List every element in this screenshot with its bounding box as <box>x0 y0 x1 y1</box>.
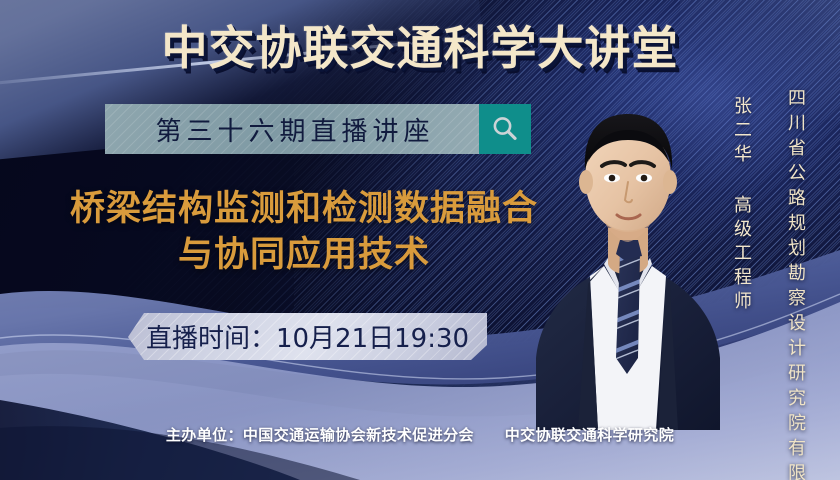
webinar-poster: 中交协联交通科学大讲堂 第三十六期直播讲座 桥梁结构监测和检测数据融合 与协同应… <box>0 0 840 480</box>
search-icon-glyph <box>490 114 520 144</box>
headline-line-2: 与协同应用技术 <box>34 232 574 278</box>
subtitle-banner-label: 第三十六期直播讲座 <box>149 111 434 148</box>
speaker-name-title: 张二华 高级工程师 <box>728 96 754 315</box>
live-time-badge: 直播时间：10月21日19:30 <box>128 313 487 360</box>
headline: 桥梁结构监测和检测数据融合 与协同应用技术 <box>34 186 574 278</box>
headline-line-1: 桥梁结构监测和检测数据融合 <box>34 186 574 232</box>
live-time-text: 直播时间：10月21日19:30 <box>146 318 469 355</box>
search-icon[interactable] <box>479 104 531 154</box>
subtitle-banner-body: 第三十六期直播讲座 <box>105 104 479 154</box>
page-title: 中交协联交通科学大讲堂 <box>0 12 840 78</box>
subtitle-banner: 第三十六期直播讲座 <box>105 104 531 154</box>
speaker-company: 四川省公路规划勘察设计研究院有限公司 <box>782 88 808 480</box>
organizers-footer: 主办单位：中国交通运输协会新技术促进分会 中交协联交通科学研究院 <box>0 424 840 445</box>
